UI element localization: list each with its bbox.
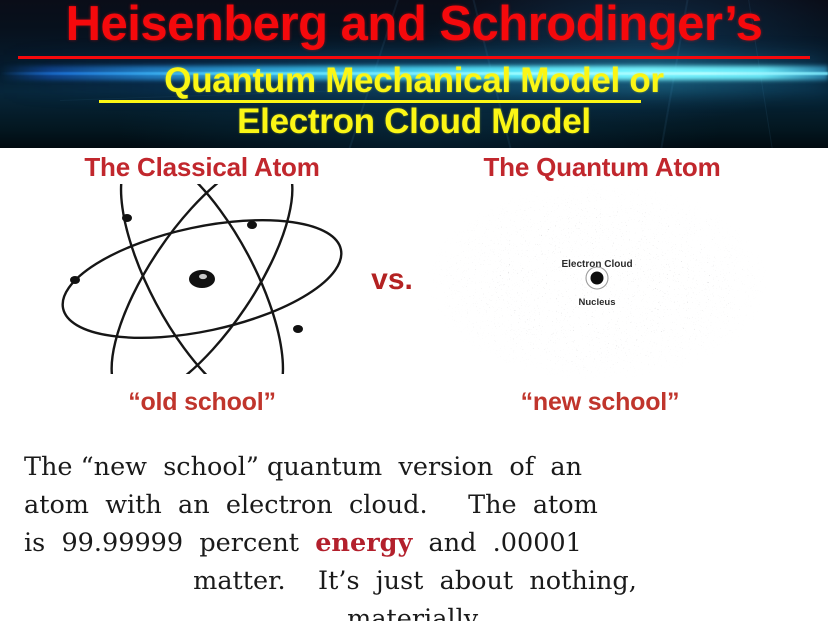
paragraph-line-5: materially. <box>24 600 806 621</box>
electron-dots <box>70 214 303 333</box>
page-title-line2: Quantum Mechanical Model or <box>0 62 828 101</box>
content-area: The Classical Atom The Quantum Atom <box>0 148 828 621</box>
classical-atom-heading: The Classical Atom <box>32 152 372 183</box>
page-title-line1: Heisenberg and Schrodinger’s <box>0 0 828 51</box>
paragraph-line-2: atom with an electron cloud. The atom <box>24 486 806 524</box>
classical-atom-diagram <box>52 184 352 374</box>
nucleus-label: Nucleus <box>579 297 616 308</box>
paragraph-line-3: is 99.99999 percent energy and .00001 <box>24 524 806 562</box>
versus-label: vs. <box>352 263 432 297</box>
electron-cloud-label: Electron Cloud <box>561 259 632 270</box>
paragraph-line-3-pre: is 99.99999 percent <box>24 528 315 558</box>
paragraph-line-3-post: and .00001 <box>412 528 582 558</box>
old-school-caption: “old school” <box>22 388 382 417</box>
electron-cloud-svg: Electron Cloud Nucleus <box>425 180 770 385</box>
quantum-atom-heading: The Quantum Atom <box>432 152 772 183</box>
energy-highlight: energy <box>315 528 412 558</box>
paragraph-line-4: matter. It’s just about nothing, <box>24 562 806 600</box>
title-header: Heisenberg and Schrodinger’s Quantum Mec… <box>0 0 828 148</box>
description-paragraph: The “new school” quantum version of an a… <box>24 448 806 621</box>
quantum-atom-diagram: Electron Cloud Nucleus <box>425 180 770 385</box>
electron-cloud-stipple: Electron Cloud Nucleus <box>425 180 770 385</box>
page-title-line3: Electron Cloud Model <box>0 103 828 142</box>
classical-atom-svg <box>52 184 352 374</box>
slide-root: Heisenberg and Schrodinger’s Quantum Mec… <box>0 0 828 621</box>
title-red-underline <box>18 56 810 59</box>
new-school-caption: “new school” <box>420 388 780 417</box>
cloud-nucleus-dot <box>591 272 604 285</box>
paragraph-line-1: The “new school” quantum version of an <box>24 448 806 486</box>
